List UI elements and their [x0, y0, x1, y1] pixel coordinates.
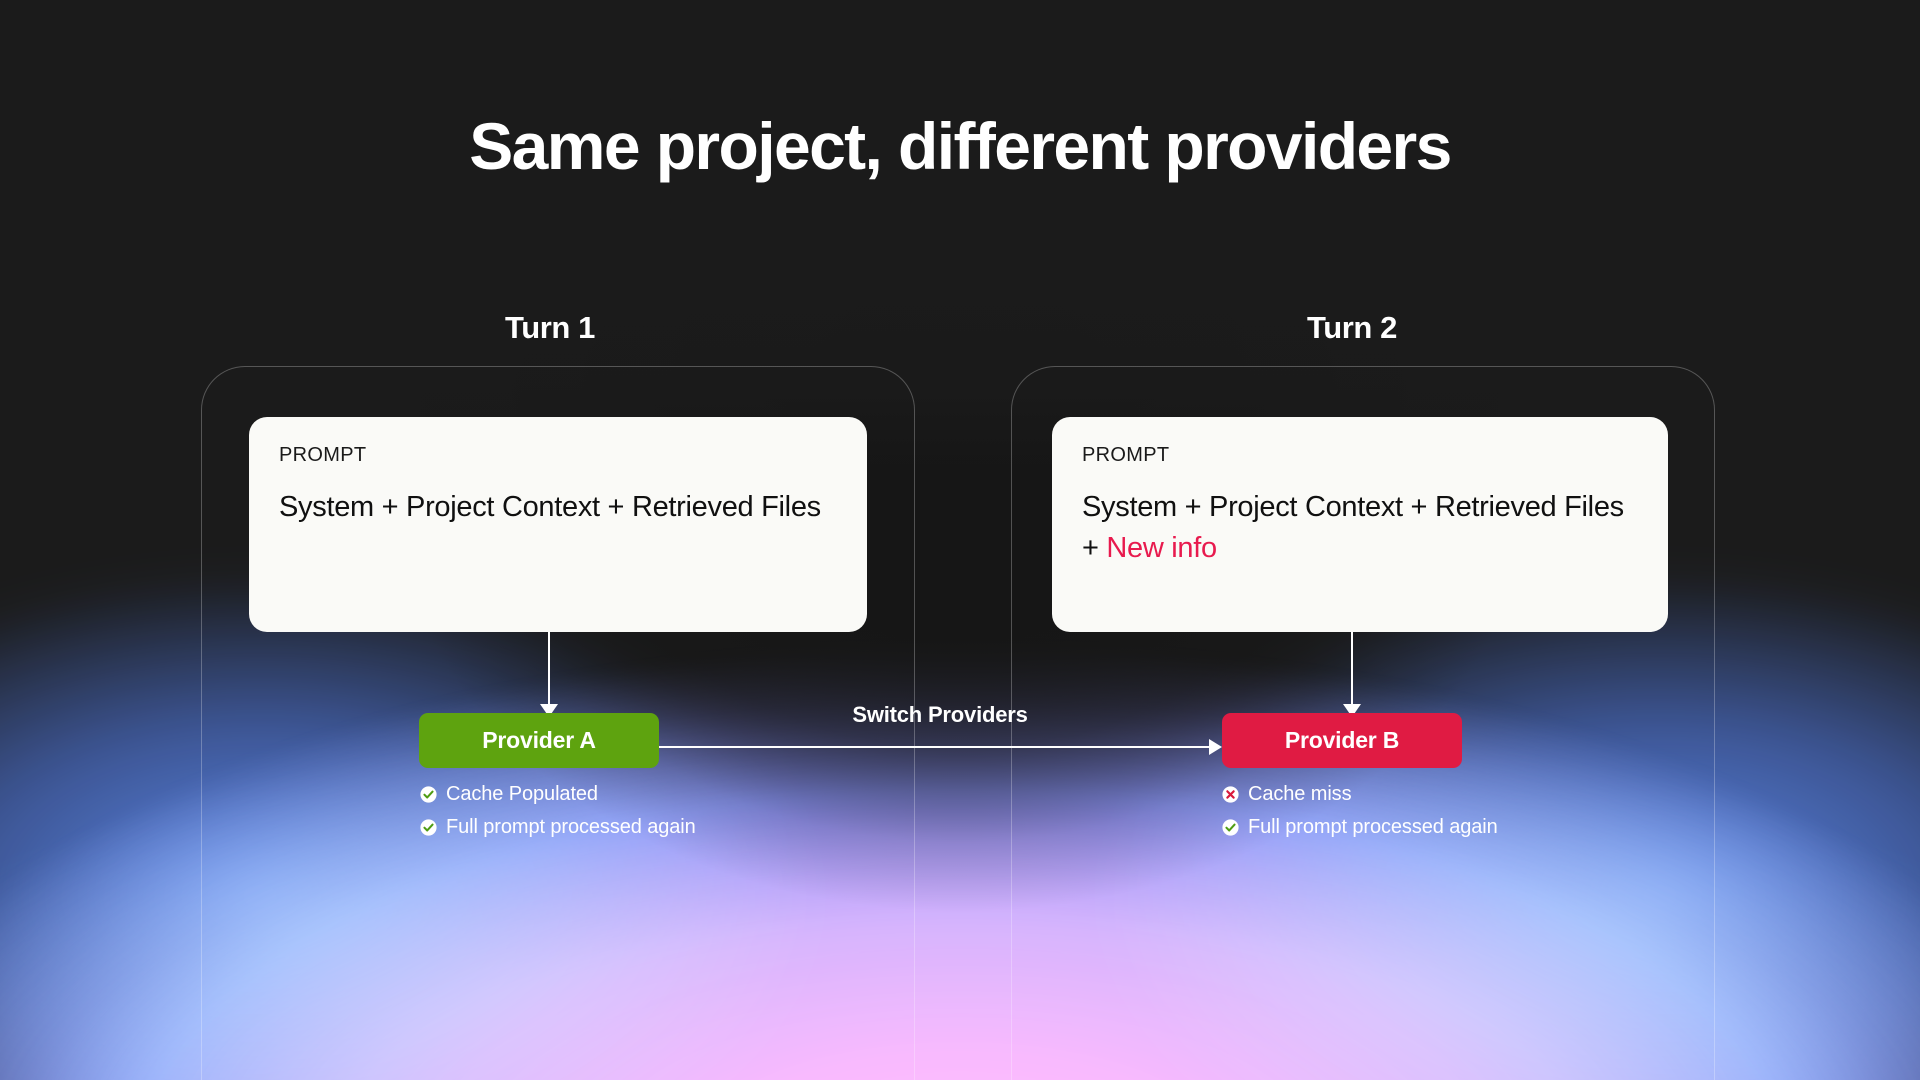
turn-2-status-list: Cache miss Full prompt processed again — [1222, 783, 1498, 849]
provider-b-pill[interactable]: Provider B — [1222, 713, 1462, 768]
provider-a-label: Provider A — [482, 727, 595, 754]
status-item: Full prompt processed again — [420, 816, 696, 838]
status-label: Full prompt processed again — [1248, 816, 1498, 838]
status-label: Full prompt processed again — [446, 816, 696, 838]
slide-canvas: Same project, different providers Turn 1… — [0, 0, 1920, 1080]
turn-1-prompt-card: PROMPT System + Project Context + Retrie… — [249, 417, 867, 632]
prompt-kicker: PROMPT — [1082, 445, 1638, 465]
status-item: Cache Populated — [420, 783, 696, 805]
status-label: Cache miss — [1248, 783, 1351, 805]
provider-b-label: Provider B — [1285, 727, 1399, 754]
turn-2-prompt-card: PROMPT System + Project Context + Retrie… — [1052, 417, 1668, 632]
status-label: Cache Populated — [446, 783, 598, 805]
switch-providers-label: Switch Providers — [790, 702, 1090, 728]
prompt-body: System + Project Context + Retrieved Fil… — [1082, 487, 1638, 569]
check-circle-icon — [1222, 819, 1239, 836]
prompt-body-accent: New info — [1106, 532, 1216, 564]
turn-1-status-list: Cache Populated Full prompt processed ag… — [420, 783, 696, 849]
status-item: Full prompt processed again — [1222, 816, 1498, 838]
x-circle-icon — [1222, 786, 1239, 803]
prompt-body-main: System + Project Context + Retrieved Fil… — [279, 491, 821, 523]
check-circle-icon — [420, 786, 437, 803]
provider-a-pill[interactable]: Provider A — [419, 713, 659, 768]
turn-2-down-arrow-icon — [1340, 632, 1364, 718]
prompt-body: System + Project Context + Retrieved Fil… — [279, 487, 837, 528]
page-title: Same project, different providers — [0, 113, 1920, 179]
check-circle-icon — [420, 819, 437, 836]
turn-1-down-arrow-icon — [537, 632, 561, 718]
turn-1-label: Turn 1 — [350, 310, 750, 346]
turn-2-label: Turn 2 — [1152, 310, 1552, 346]
status-item: Cache miss — [1222, 783, 1498, 805]
switch-providers-arrow-icon — [659, 739, 1222, 755]
prompt-kicker: PROMPT — [279, 445, 837, 465]
